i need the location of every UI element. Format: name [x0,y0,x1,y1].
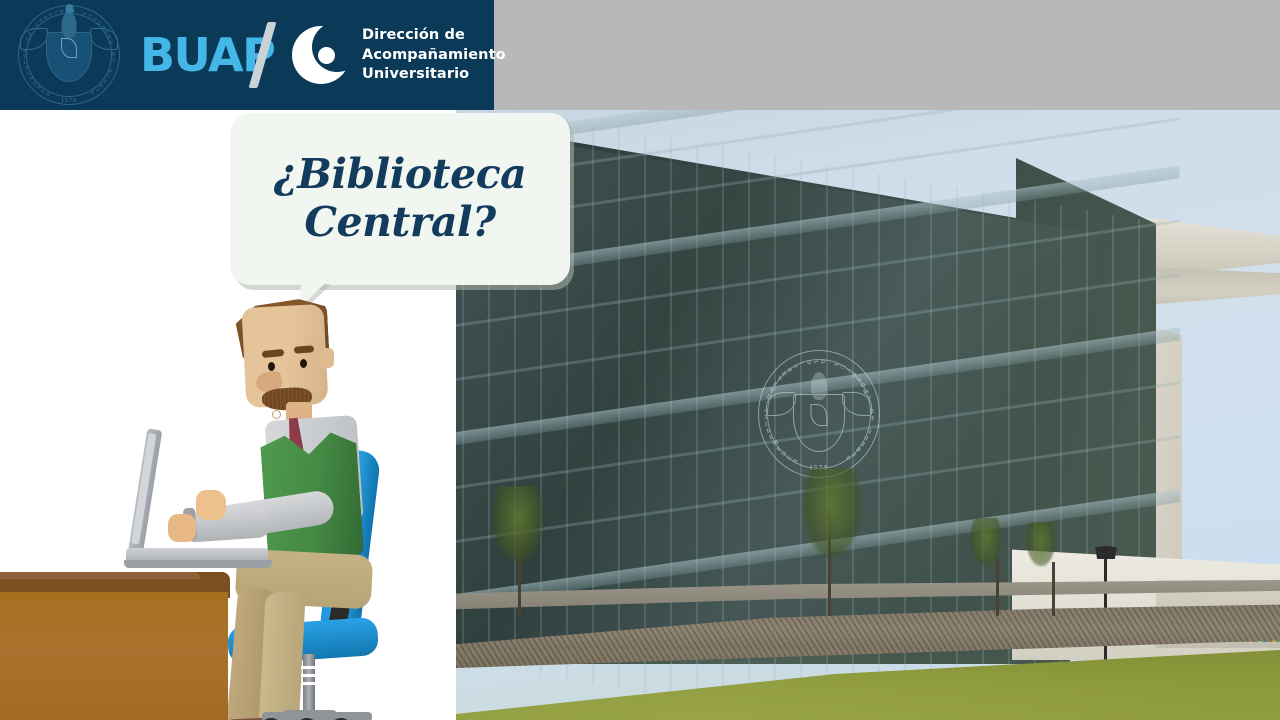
dau-line-3: Universitario [362,65,506,85]
header-navy-bar: BENEMERITA UNIVERSIDAD AUTONOMA DE PUEBL… [0,0,494,110]
dau-crescent-icon [292,26,350,84]
tree-canopy [1026,522,1056,567]
eye-right [300,359,307,368]
mouth [272,410,281,419]
dau-org-name: Dirección de Acompañamiento Universitari… [362,26,506,85]
tree-canopy [970,518,1002,567]
lamp-head-icon [1095,546,1117,559]
slide-canvas: BENEMERITA UNIVERSIDAD AUTONOMA DE PUEBL… [0,0,1280,720]
dau-line-2: Acompañamiento [362,46,506,66]
tree-trunk [1052,562,1055,616]
laptop-base-edge [124,560,272,568]
buap-seal-icon: BENEMERITA UNIVERSIDAD AUTONOMA DE PUEBL… [8,2,130,108]
dau-line-1: Dirección de [362,26,506,46]
desk-body [0,592,228,720]
eyebrow-right [294,345,314,353]
chair-stem-ring [301,682,317,685]
seal-year: 1578 [61,98,77,104]
ear [320,348,334,368]
chair-stem-ring [301,666,317,669]
desk-highlight [0,572,200,579]
lawn-highlight [456,650,1280,720]
library-building-photo: BENEMERITA UNIVERSIDAD AUTONOMA DE PUEBL… [456,110,1280,720]
hand-front [196,490,226,520]
hand-back [168,514,196,542]
tree-canopy [492,486,544,563]
leg-front [258,591,305,720]
etched-buap-seal-icon: BENEMERITA UNIVERSIDAD AUTONOMA DE PUEBL… [758,350,880,478]
eye-left [268,362,275,371]
chair-stem-ring [301,674,317,677]
tree-canopy [802,468,862,559]
illustration-man-at-laptop [0,110,456,720]
